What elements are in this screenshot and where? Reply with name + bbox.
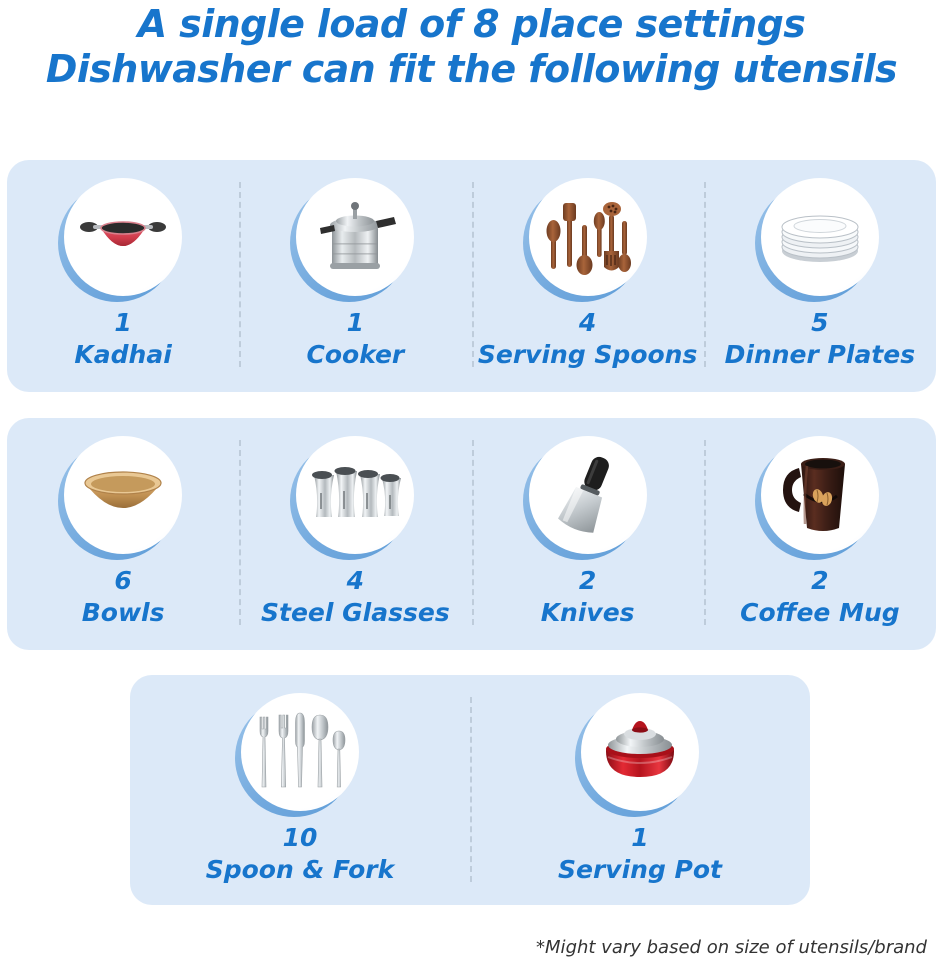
utensil-cell-coffee-mug[interactable]: 2 Coffee Mug	[704, 418, 936, 650]
utensil-name: Bowls	[82, 599, 165, 626]
utensil-cell-spoon-fork[interactable]: 10 Spoon & Fork	[130, 675, 470, 905]
icon-frame	[64, 436, 182, 554]
title-line1-highlight: 8 place settings	[473, 2, 805, 46]
utensil-qty: 4	[347, 568, 364, 593]
utensil-cell-steel-glasses[interactable]: 4 Steel Glasses	[239, 418, 471, 650]
utensil-row-1: 1 Kadhai	[7, 160, 936, 392]
utensil-qty: 5	[811, 310, 828, 335]
utensil-qty: 4	[579, 310, 596, 335]
cutlery-icon	[241, 693, 359, 811]
utensil-cell-knives[interactable]: 2 Knives	[472, 418, 704, 650]
serving-pot-icon	[581, 693, 699, 811]
utensil-qty: 2	[811, 568, 828, 593]
title-line2-highlight: Dishwasher	[46, 47, 289, 91]
utensil-cell-bowls[interactable]: 6 Bowls	[7, 418, 239, 650]
icon-frame	[529, 178, 647, 296]
infographic-root: A single load of 8 place settings Dishwa…	[0, 0, 943, 972]
utensil-qty: 6	[114, 568, 131, 593]
icon-frame	[761, 436, 879, 554]
utensil-row-2: 6 Bowls	[7, 418, 936, 650]
icon-frame	[296, 436, 414, 554]
serving-spoons-icon	[529, 178, 647, 296]
utensil-row-3: 10 Spoon & Fork	[130, 675, 810, 905]
utensil-cell-serving-pot[interactable]: 1 Serving Pot	[470, 675, 810, 905]
icon-frame	[529, 436, 647, 554]
utensil-cell-cooker[interactable]: 1 Cooker	[239, 160, 471, 392]
steel-glasses-icon	[296, 436, 414, 554]
wooden-bowl-icon	[64, 436, 182, 554]
utensil-qty: 1	[114, 310, 131, 335]
footnote: *Might vary based on size of utensils/br…	[536, 937, 927, 958]
utensil-qty: 1	[347, 310, 364, 335]
utensil-name: Serving Spoons	[478, 341, 697, 368]
kadhai-icon	[64, 178, 182, 296]
utensil-name: Steel Glasses	[261, 599, 450, 626]
utensil-name: Cooker	[307, 341, 405, 368]
title-line2-normal: can fit the following utensils	[289, 47, 897, 91]
icon-frame	[581, 693, 699, 811]
utensil-cell-serving-spoons[interactable]: 4 Serving Spoons	[472, 160, 704, 392]
utensil-qty: 1	[631, 825, 648, 850]
utensil-cell-dinner-plates[interactable]: 5 Dinner Plates	[704, 160, 936, 392]
coffee-mug-icon	[761, 436, 879, 554]
utensil-name: Spoon & Fork	[206, 856, 395, 883]
utensil-qty: 10	[283, 825, 318, 850]
utensil-name: Knives	[541, 599, 635, 626]
title-line1-normal: A single load of	[138, 2, 473, 46]
utensil-name: Serving Pot	[558, 856, 722, 883]
pressure-cooker-icon	[296, 178, 414, 296]
utensil-cell-kadhai[interactable]: 1 Kadhai	[7, 160, 239, 392]
utensil-name: Coffee Mug	[740, 599, 900, 626]
knife-icon	[529, 436, 647, 554]
page-title: A single load of 8 place settings Dishwa…	[0, 0, 943, 90]
utensil-name: Dinner Plates	[725, 341, 915, 368]
icon-frame	[241, 693, 359, 811]
utensil-qty: 2	[579, 568, 596, 593]
utensil-name: Kadhai	[74, 341, 171, 368]
dinner-plates-icon	[761, 178, 879, 296]
icon-frame	[761, 178, 879, 296]
icon-frame	[64, 178, 182, 296]
icon-frame	[296, 178, 414, 296]
